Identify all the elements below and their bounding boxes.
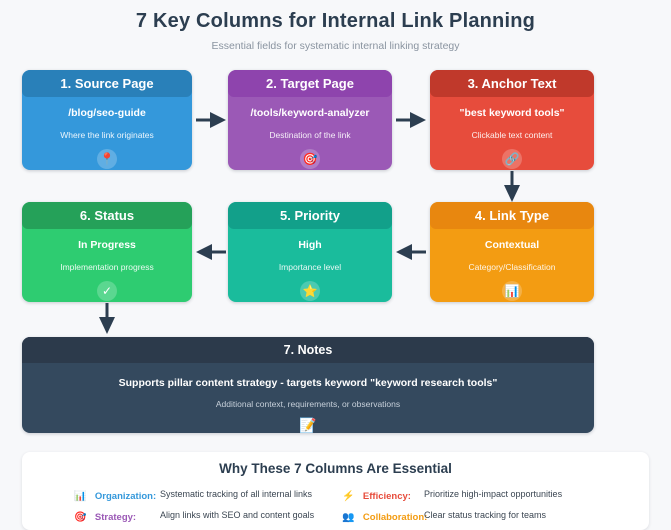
- card-header: 1. Source Page: [22, 70, 192, 97]
- memo-icon: 📝: [22, 417, 594, 433]
- card-description: Destination of the link: [228, 129, 392, 141]
- card-body: "best keyword tools" Clickable text cont…: [430, 97, 594, 169]
- legend-label: Efficiency:: [363, 491, 411, 502]
- arrow-right-1: [194, 110, 228, 130]
- arrow-left-2: [194, 242, 228, 262]
- legend-column-left: 📊 Organization: Systematic tracking of a…: [74, 484, 374, 526]
- legend-item-efficiency: ⚡ Efficiency: Prioritize high-impact opp…: [342, 484, 642, 505]
- check-icon-glyph: ✓: [97, 281, 117, 301]
- footer-panel: Why These 7 Columns Are Essential 📊 Orga…: [22, 452, 649, 530]
- footer-title: Why These 7 Columns Are Essential: [22, 461, 649, 476]
- card-body: Contextual Category/Classification 📊: [430, 229, 594, 301]
- card-notes[interactable]: 7. Notes Supports pillar content strateg…: [22, 337, 594, 433]
- people-icon: 👥: [342, 512, 354, 523]
- notes-header: 7. Notes: [22, 337, 594, 363]
- lightning-icon: ⚡: [342, 491, 354, 502]
- card-target-page[interactable]: 2. Target Page /tools/keyword-analyzer D…: [228, 70, 392, 170]
- card-value: /tools/keyword-analyzer: [228, 106, 392, 120]
- target-icon: 🎯: [74, 512, 86, 523]
- card-header: 6. Status: [22, 202, 192, 229]
- bar-chart-icon-glyph: 📊: [502, 281, 522, 301]
- pin-icon-glyph: 📍: [97, 149, 117, 169]
- page-title: 7 Key Columns for Internal Link Planning: [0, 10, 671, 33]
- star-icon: ⭐: [228, 281, 392, 301]
- card-header: 2. Target Page: [228, 70, 392, 97]
- legend-description: Align links with SEO and content goals: [160, 505, 314, 526]
- link-icon-glyph: 🔗: [502, 149, 522, 169]
- card-description: Where the link originates: [22, 129, 192, 141]
- card-header: 4. Link Type: [430, 202, 594, 229]
- legend-label: Organization:: [95, 491, 156, 502]
- arrow-left-1: [394, 242, 428, 262]
- card-value: High: [228, 238, 392, 252]
- card-header: 3. Anchor Text: [430, 70, 594, 97]
- notes-value: Supports pillar content strategy - targe…: [22, 377, 594, 389]
- legend-label: Strategy:: [95, 512, 136, 523]
- card-description: Clickable text content: [430, 129, 594, 141]
- card-description: Implementation progress: [22, 261, 192, 273]
- bar-chart-icon: 📊: [74, 491, 86, 502]
- card-body: /blog/seo-guide Where the link originate…: [22, 97, 192, 169]
- card-source-page[interactable]: 1. Source Page /blog/seo-guide Where the…: [22, 70, 192, 170]
- card-body: In Progress Implementation progress ✓: [22, 229, 192, 301]
- card-value: In Progress: [22, 238, 192, 252]
- legend-column-right: ⚡ Efficiency: Prioritize high-impact opp…: [342, 484, 642, 526]
- card-value: "best keyword tools": [430, 106, 594, 120]
- legend-description: Clear status tracking for teams: [424, 505, 546, 526]
- check-icon: ✓: [22, 281, 192, 301]
- card-priority[interactable]: 5. Priority High Importance level ⭐: [228, 202, 392, 302]
- card-description: Category/Classification: [430, 261, 594, 273]
- card-value: /blog/seo-guide: [22, 106, 192, 120]
- star-icon-glyph: ⭐: [300, 281, 320, 301]
- card-link-type[interactable]: 4. Link Type Contextual Category/Classif…: [430, 202, 594, 302]
- infographic-root: 7 Key Columns for Internal Link Planning…: [0, 0, 671, 530]
- bar-chart-icon: 📊: [430, 281, 594, 301]
- card-value: Contextual: [430, 238, 594, 252]
- card-body: /tools/keyword-analyzer Destination of t…: [228, 97, 392, 169]
- card-status[interactable]: 6. Status In Progress Implementation pro…: [22, 202, 192, 302]
- legend-item-collaboration: 👥 Collaboration: Clear status tracking f…: [342, 505, 642, 526]
- card-body: High Importance level ⭐: [228, 229, 392, 301]
- arrow-down-2: [96, 302, 118, 336]
- pin-icon: 📍: [22, 149, 192, 169]
- target-icon-glyph: 🎯: [300, 149, 320, 169]
- arrow-down-1: [501, 170, 523, 204]
- notes-description: Additional context, requirements, or obs…: [22, 399, 594, 409]
- legend-description: Systematic tracking of all internal link…: [160, 484, 312, 505]
- link-icon: 🔗: [430, 149, 594, 169]
- legend-description: Prioritize high-impact opportunities: [424, 484, 562, 505]
- notes-body: Supports pillar content strategy - targe…: [22, 363, 594, 433]
- card-anchor-text[interactable]: 3. Anchor Text "best keyword tools" Clic…: [430, 70, 594, 170]
- page-subtitle: Essential fields for systematic internal…: [0, 40, 671, 52]
- legend-item-strategy: 🎯 Strategy: Align links with SEO and con…: [74, 505, 374, 526]
- card-header: 5. Priority: [228, 202, 392, 229]
- card-description: Importance level: [228, 261, 392, 273]
- arrow-right-2: [394, 110, 428, 130]
- legend-label: Collaboration:: [363, 512, 427, 523]
- target-icon: 🎯: [228, 149, 392, 169]
- legend-item-organization: 📊 Organization: Systematic tracking of a…: [74, 484, 374, 505]
